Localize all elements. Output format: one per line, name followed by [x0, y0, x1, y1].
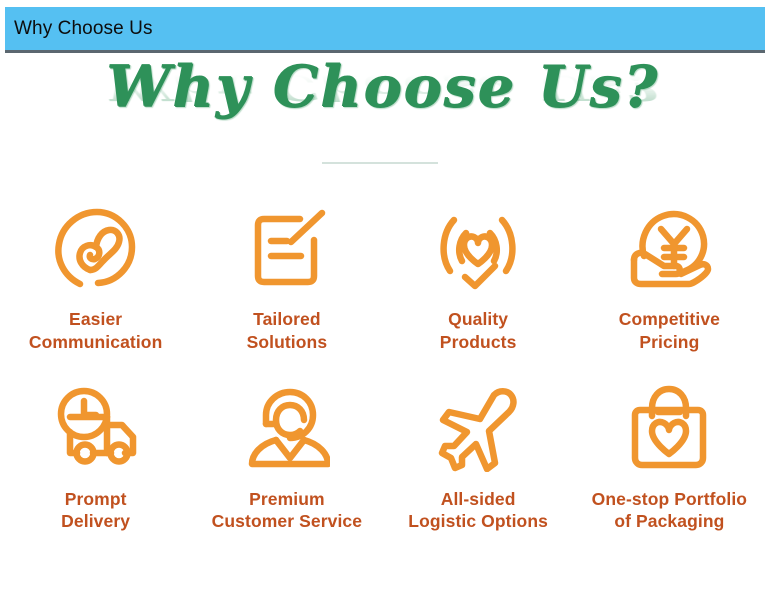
feature-label: All-sided Logistic Options: [408, 488, 548, 534]
feature-item: Quality Products: [383, 196, 574, 354]
feature-label: Tailored Solutions: [247, 308, 328, 354]
hero-heading-label: Why Choose Us?: [106, 58, 659, 115]
hand-coin-yen-icon: [619, 196, 719, 300]
feature-label: Quality Products: [440, 308, 517, 354]
hero-wrap: Why Choose Us? Why Choose Us?: [0, 58, 765, 115]
feature-item: Tailored Solutions: [191, 196, 382, 354]
shopping-bag-heart-icon: [619, 376, 719, 480]
hero-heading-text: Why Choose Us?: [0, 58, 765, 115]
feature-item: All-sided Logistic Options: [383, 376, 574, 534]
feature-label: Premium Customer Service: [212, 488, 362, 534]
feature-item: Prompt Delivery: [0, 376, 191, 534]
feature-label: Competitive Pricing: [619, 308, 720, 354]
feature-label: Easier Communication: [29, 308, 163, 354]
ear-listening-icon: [46, 196, 146, 300]
document-pencil-icon: [237, 196, 337, 300]
feature-label: Prompt Delivery: [61, 488, 130, 534]
hero-heading-block: Why Choose Us? Why Choose Us?: [0, 58, 765, 168]
feature-label: One-stop Portfolio of Packaging: [592, 488, 747, 534]
heart-signal-check-icon: [428, 196, 528, 300]
heading-divider: [322, 162, 438, 164]
feature-item: One-stop Portfolio of Packaging: [574, 376, 765, 534]
window-title-bar: Why Choose Us: [5, 7, 765, 53]
airplane-icon: [428, 376, 528, 480]
page-root: Why Choose Us Why Choose Us? Why Choose …: [0, 0, 765, 599]
feature-item: Premium Customer Service: [191, 376, 382, 534]
feature-item: Competitive Pricing: [574, 196, 765, 354]
truck-clock-icon: [46, 376, 146, 480]
feature-grid: Easier Communication Tailored Solutions: [0, 196, 765, 533]
headset-agent-icon: [237, 376, 337, 480]
feature-item: Easier Communication: [0, 196, 191, 354]
window-title: Why Choose Us: [5, 18, 153, 40]
